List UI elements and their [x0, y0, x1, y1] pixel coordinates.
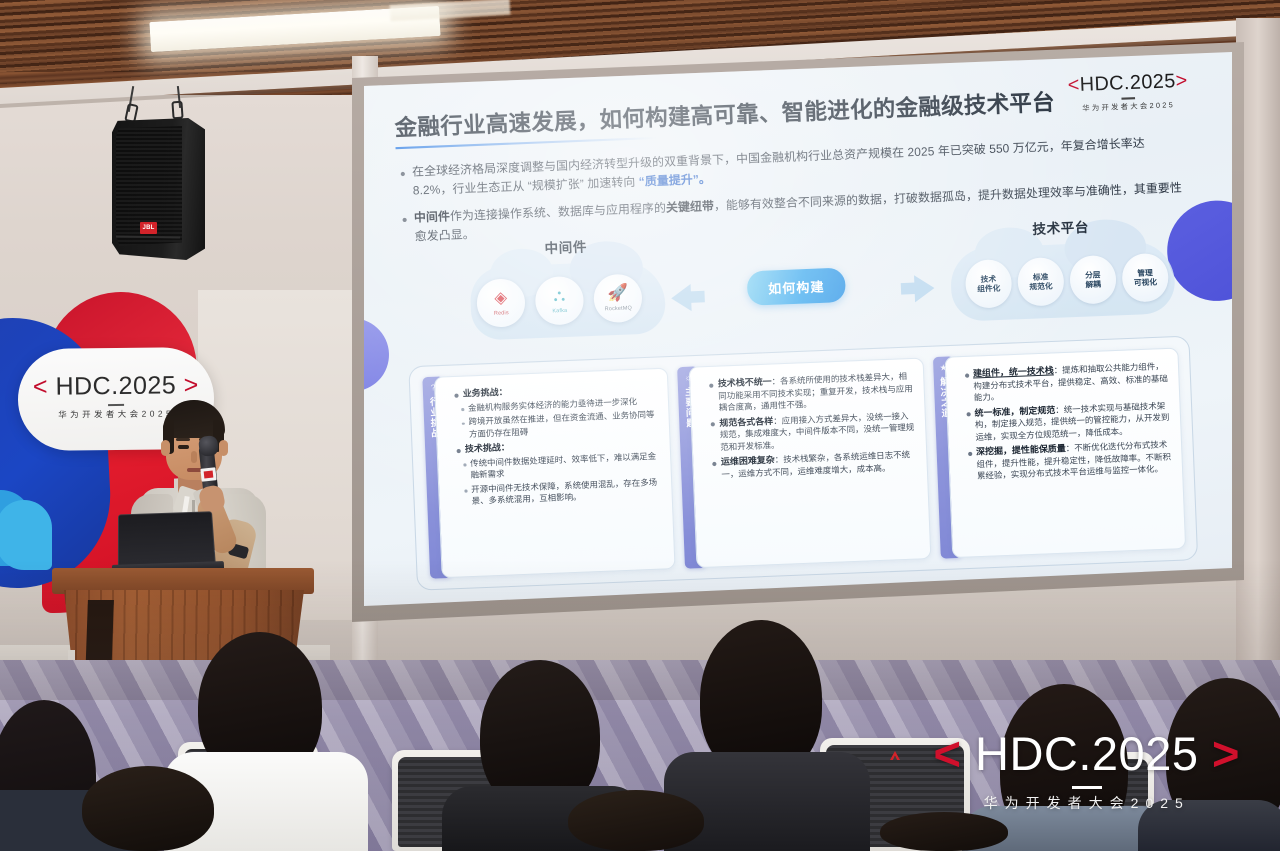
platform-tag: 分层解耦 [1069, 255, 1117, 305]
slide-decoration-circle-small [364, 317, 390, 393]
hdc-watermark: < HDC.2025 > 华为开发者大会2025 [934, 726, 1240, 813]
middleware-logo-label: RocketMQ [605, 305, 633, 312]
panel-bullet-dot-icon [461, 408, 464, 411]
panel-item-text: 开源中间件无技术保障，系统使用混乱，存在多场景、多系统混用，互相影响。 [471, 476, 663, 507]
rocketmq-icon: 🚀RocketMQ [593, 274, 643, 324]
hdc-stage-sign-divider [108, 404, 124, 406]
platform-tag-line2: 解耦 [1085, 280, 1101, 291]
audience-head [82, 766, 214, 851]
kafka-icon-glyph: ⛬ [553, 288, 565, 305]
slide-title: 金融行业高速发展，如何构建高可靠、智能进化的金融级技术平台 [394, 84, 1055, 142]
bracket-right-icon: > [1212, 727, 1240, 780]
slide-hdc-logo: <HDC.2025> 华为开发者大会2025 [1067, 70, 1189, 116]
speaker-mount-hook-icon [171, 101, 183, 120]
panel-bullet-dot-icon [709, 383, 713, 387]
panel-list-item: 规范各式各样：应用接入方式差异大，没统一接入规范，集成难度大，中间件版本不同，没… [711, 409, 916, 454]
panel-bullet-dot-icon [463, 464, 466, 467]
bracket-right-icon: > [184, 371, 199, 399]
platform-tag-line2: 组件化 [977, 284, 1001, 295]
platform-tag: 管理可视化 [1121, 253, 1169, 303]
slide-panels-container: ?行业挑战业务挑战：金融机构服务实体经济的能力亟待进一步深化跨境开放虽然在推进，… [408, 336, 1198, 591]
panel-item-text: 业务挑战： [462, 386, 507, 401]
platform-tag-line1: 分层 [1085, 270, 1101, 281]
panel-item-text: 深挖掘，提性能保质量：不断优化迭代分布式技术组件，提升性能，提升稳定性，降低故障… [976, 438, 1173, 483]
watermark-subtitle: 华为开发者大会2025 [934, 793, 1240, 813]
panel-item-heading: 统一标准，制定规范 [974, 405, 1055, 419]
bullet-dot-icon [402, 217, 406, 221]
platform-tag-row: 技术组件化标准规范化分层解耦管理可视化 [965, 253, 1169, 309]
presenter-nose [191, 451, 197, 463]
star-icon: ★ [940, 363, 948, 373]
middleware-logo-label: Redis [494, 310, 509, 317]
platform-tag-line1: 技术 [981, 274, 997, 285]
redis-icon: ◈Redis [476, 279, 526, 329]
platform-tag: 技术组件化 [965, 259, 1013, 309]
sun-icon: ☼ [684, 373, 692, 383]
presenter-ear-left [161, 440, 170, 456]
panel-list-item: 技术栈不统一：各系统所使用的技术栈差异大，相同功能采用不同技术实现；重复开发，技… [709, 370, 914, 415]
slide-hdc-main-text: HDC.2025 [1079, 70, 1176, 96]
projection-screen: 金融行业高速发展，如何构建高可靠、智能进化的金融级技术平台 <HDC.2025>… [364, 52, 1232, 608]
panel-bullet-dot-icon [965, 373, 969, 377]
panel-list-item: 运维困难复杂：技术栈繁杂，各系统运维日志不统一，运维方式不同，运维难度增大，成本… [712, 448, 917, 481]
presentation-slide: 金融行业高速发展，如何构建高可靠、智能进化的金融级技术平台 <HDC.2025>… [364, 52, 1232, 608]
panel-item-heading: 深挖掘，提性能保质量 [976, 443, 1066, 457]
panel-list-item: 开源中间件无技术保障，系统使用混乱，存在多场景、多系统混用，互相影响。 [458, 476, 663, 508]
slide-panels: ?行业挑战业务挑战：金融机构服务实体经济的能力亟待进一步深化跨境开放虽然在推进，… [409, 337, 1197, 590]
presenter-ear-right [219, 440, 228, 456]
panel-bullet-dot-icon [713, 462, 717, 466]
panel-item-heading: 运维困难复杂 [721, 455, 775, 468]
panel-list-item: 建组件，统一技术栈：提炼和抽取公共能力组件，构建分布式技术平台，提供稳定、高效、… [964, 360, 1169, 405]
microphone-flag-logo-icon [200, 467, 216, 481]
panel-item-text: 运维困难复杂：技术栈繁杂，各系统运维日志不统一，运维方式不同，运维难度增大，成本… [721, 448, 918, 481]
panel-item-text: 规范各式各样：应用接入方式差异大，没统一接入规范，集成难度大，中间件版本不同，没… [719, 409, 916, 454]
panel-bullet-dot-icon [462, 423, 465, 426]
panel-item-text: 建组件，统一技术栈：提炼和抽取公共能力组件，构建分布式技术平台，提供稳定、高效、… [973, 360, 1170, 405]
rocketmq-icon-glyph: 🚀 [607, 285, 628, 303]
redis-icon-glyph: ◈ [494, 290, 508, 307]
watermark-main-text: HDC.2025 [975, 727, 1198, 780]
panel-item-heading: 技术栈不统一 [718, 377, 772, 390]
slide-panel: ?行业挑战业务挑战：金融机构服务实体经济的能力亟待进一步深化跨境开放虽然在推进，… [422, 368, 676, 579]
panel-list-item: 深挖掘，提性能保质量：不断优化迭代分布式技术组件，提升性能，提升稳定性，降低故障… [967, 438, 1172, 483]
panel-item-heading: 建组件，统一技术栈 [973, 365, 1054, 379]
panel-bullet-dot-icon [968, 452, 972, 456]
question-mark-icon: ? [431, 383, 436, 393]
bracket-right-icon: > [1175, 70, 1188, 92]
panel-card: 技术栈不统一：各系统所使用的技术栈差异大，相同功能采用不同技术实现；重复开发，技… [689, 358, 931, 569]
middleware-logo-label: Kafka [552, 308, 567, 315]
arrow-right-tail [901, 283, 916, 295]
panel-bullet-dot-icon [966, 413, 970, 417]
arrow-left-icon [671, 285, 692, 313]
slide-panel: ★解决之道建组件，统一技术栈：提炼和抽取公共能力组件，构建分布式技术平台，提供稳… [933, 348, 1187, 559]
slide-diagram: 中间件 技术平台 ◈Redis⛬Kafka🚀RocketMQ 技术组件化标准规范… [408, 230, 1184, 350]
slide-hdc-divider [1121, 97, 1135, 99]
panel-bullet-dot-icon [711, 423, 715, 427]
panel-bullet-dot-icon [464, 490, 467, 493]
conference-photo: < HDC.2025 > 华为开发者大会2025 金融行业高速发展，如何构建高可… [0, 0, 1280, 851]
presenter-eye-left [178, 445, 189, 449]
audience-head [880, 812, 1008, 851]
panel-item-text: 技术栈不统一：各系统所使用的技术栈差异大，相同功能采用不同技术实现；重复开发，技… [718, 370, 915, 415]
slide-hdc-subtitle: 华为开发者大会2025 [1068, 99, 1188, 114]
platform-tag-line1: 标准 [1033, 272, 1049, 283]
panel-card: 建组件，统一技术栈：提炼和抽取公共能力组件，构建分布式技术平台，提供稳定、高效、… [944, 348, 1186, 559]
arrow-left-tail [690, 291, 705, 303]
hdc-stage-sign-main-text: HDC.2025 [55, 371, 176, 400]
slide-panel: ☼主要问题技术栈不统一：各系统所使用的技术栈差异大，相同功能采用不同技术实现；重… [677, 358, 931, 569]
watermark-divider [1072, 786, 1102, 789]
hdc-stage-sign-title: < HDC.2025 > [18, 371, 214, 402]
kafka-icon: ⛬Kafka [535, 276, 585, 326]
middleware-logo-row: ◈Redis⛬Kafka🚀RocketMQ [476, 274, 643, 329]
jbl-logo-icon [140, 222, 157, 234]
audience-head [568, 790, 704, 851]
panel-bullet-dot-icon [457, 449, 461, 453]
panel-list-item: 统一标准，制定规范：统一技术实现与基础技术架构，制定接入规范，提供统一的管控能力… [966, 399, 1171, 444]
presenter-eyebrow-left [176, 438, 190, 441]
platform-tag-line2: 可视化 [1134, 278, 1158, 289]
bullet-dot-icon [401, 171, 405, 175]
panel-bullet-dot-icon [454, 394, 458, 398]
platform-tag-line1: 管理 [1137, 268, 1153, 279]
panel-item-heading: 规范各式各样 [719, 416, 773, 429]
panel-item-text: 统一标准，制定规范：统一技术实现与基础技术架构，制定接入规范，提供统一的管控能力… [974, 399, 1171, 444]
panel-card: 业务挑战：金融机构服务实体经济的能力亟待进一步深化跨境开放虽然在推进，但在资金流… [434, 368, 676, 579]
bracket-left-icon: < [934, 727, 962, 780]
bracket-left-icon: < [1067, 74, 1080, 96]
backdrop-blue-lobe [0, 500, 52, 570]
platform-tag: 标准规范化 [1017, 257, 1065, 307]
bracket-left-icon: < [33, 373, 48, 401]
how-to-build-pill: 如何构建 [747, 268, 847, 306]
platform-tag-line2: 规范化 [1029, 282, 1053, 293]
arrow-right-icon [914, 275, 935, 303]
panel-item-text: 技术挑战： [465, 441, 510, 456]
